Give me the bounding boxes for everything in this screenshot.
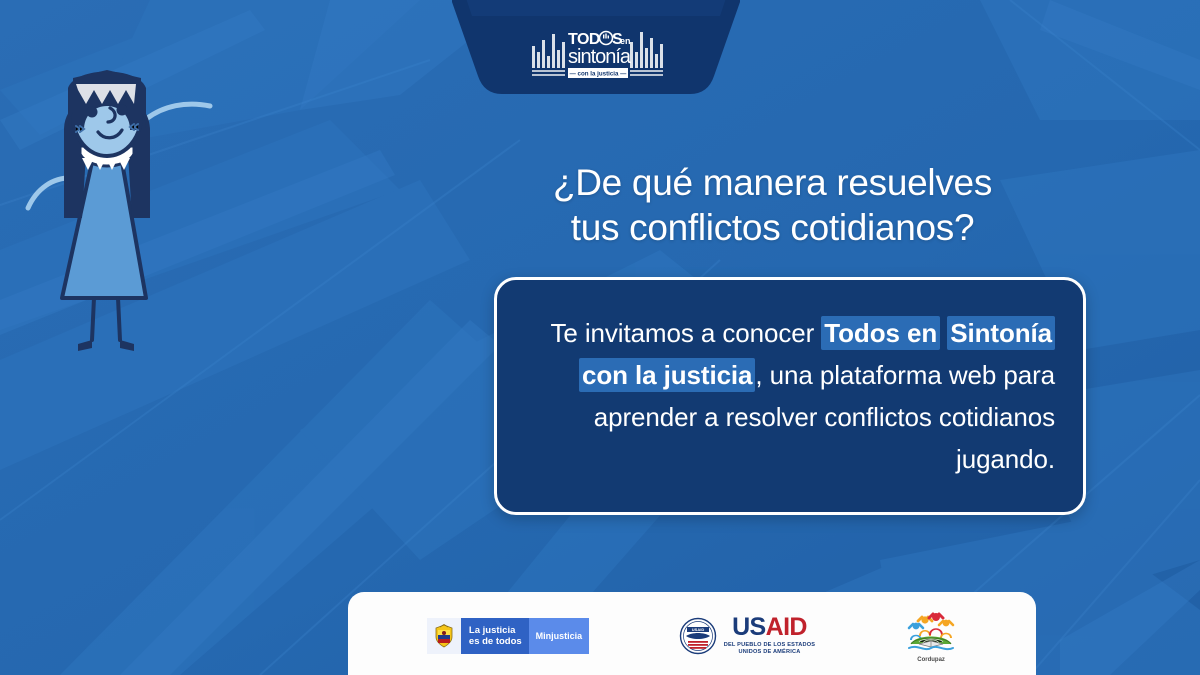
minjusticia-slogan-line-2: es de todos <box>469 636 529 647</box>
svg-text:USAID: USAID <box>692 627 705 632</box>
usaid-seal-icon: USAID <box>679 617 717 655</box>
svg-text:sintonía: sintonía <box>568 46 632 68</box>
usaid-sub-line-2: UNIDOS DE AMÉRICA <box>724 649 816 656</box>
invitation-card: Te invitamos a conocer Todos en Sintonía… <box>494 277 1086 515</box>
usaid-logo: USAID USAID DEL PUEBLO DE LOS ESTADOS UN… <box>679 616 816 656</box>
cordupaz-logo: Cordupaz <box>905 610 957 663</box>
cordupaz-emblem-icon <box>905 610 957 656</box>
minjusticia-slogan: La justicia es de todos <box>461 618 529 654</box>
svg-text:— con la justicia —: — con la justicia — <box>570 71 628 78</box>
headline-question: ¿De qué manera resuelves tus conflictos … <box>500 160 1045 250</box>
colombia-coat-of-arms-icon <box>427 618 461 654</box>
headline-line-2: tus conflictos cotidianos? <box>500 205 1045 250</box>
minjusticia-logo: La justicia es de todos Minjusticia <box>427 618 589 654</box>
invitation-text: Te invitamos a conocer Todos en Sintonía… <box>525 312 1055 480</box>
invitation-text-before: Te invitamos a conocer <box>550 318 821 348</box>
usaid-sub-line-1: DEL PUEBLO DE LOS ESTADOS <box>724 642 816 649</box>
cordupaz-name: Cordupaz <box>917 657 945 663</box>
invitation-highlight-1: Todos en <box>821 316 940 350</box>
minjusticia-slogan-line-1: La justicia <box>469 625 529 636</box>
headline-line-1: ¿De qué manera resuelves <box>500 160 1045 205</box>
minjusticia-entity: Minjusticia <box>529 618 589 654</box>
svg-text:en: en <box>620 36 631 46</box>
usaid-word-aid: AID <box>766 613 807 641</box>
sintonia-logo: TOD S en sintonía — con la justicia — <box>530 22 664 84</box>
footer-logo-bar: La justicia es de todos Minjusticia USAI… <box>348 592 1036 675</box>
promo-slide: TOD S en sintonía — con la justicia — <box>0 0 1200 675</box>
girl-character-illustration <box>18 58 203 358</box>
usaid-word-us: US <box>732 613 766 641</box>
